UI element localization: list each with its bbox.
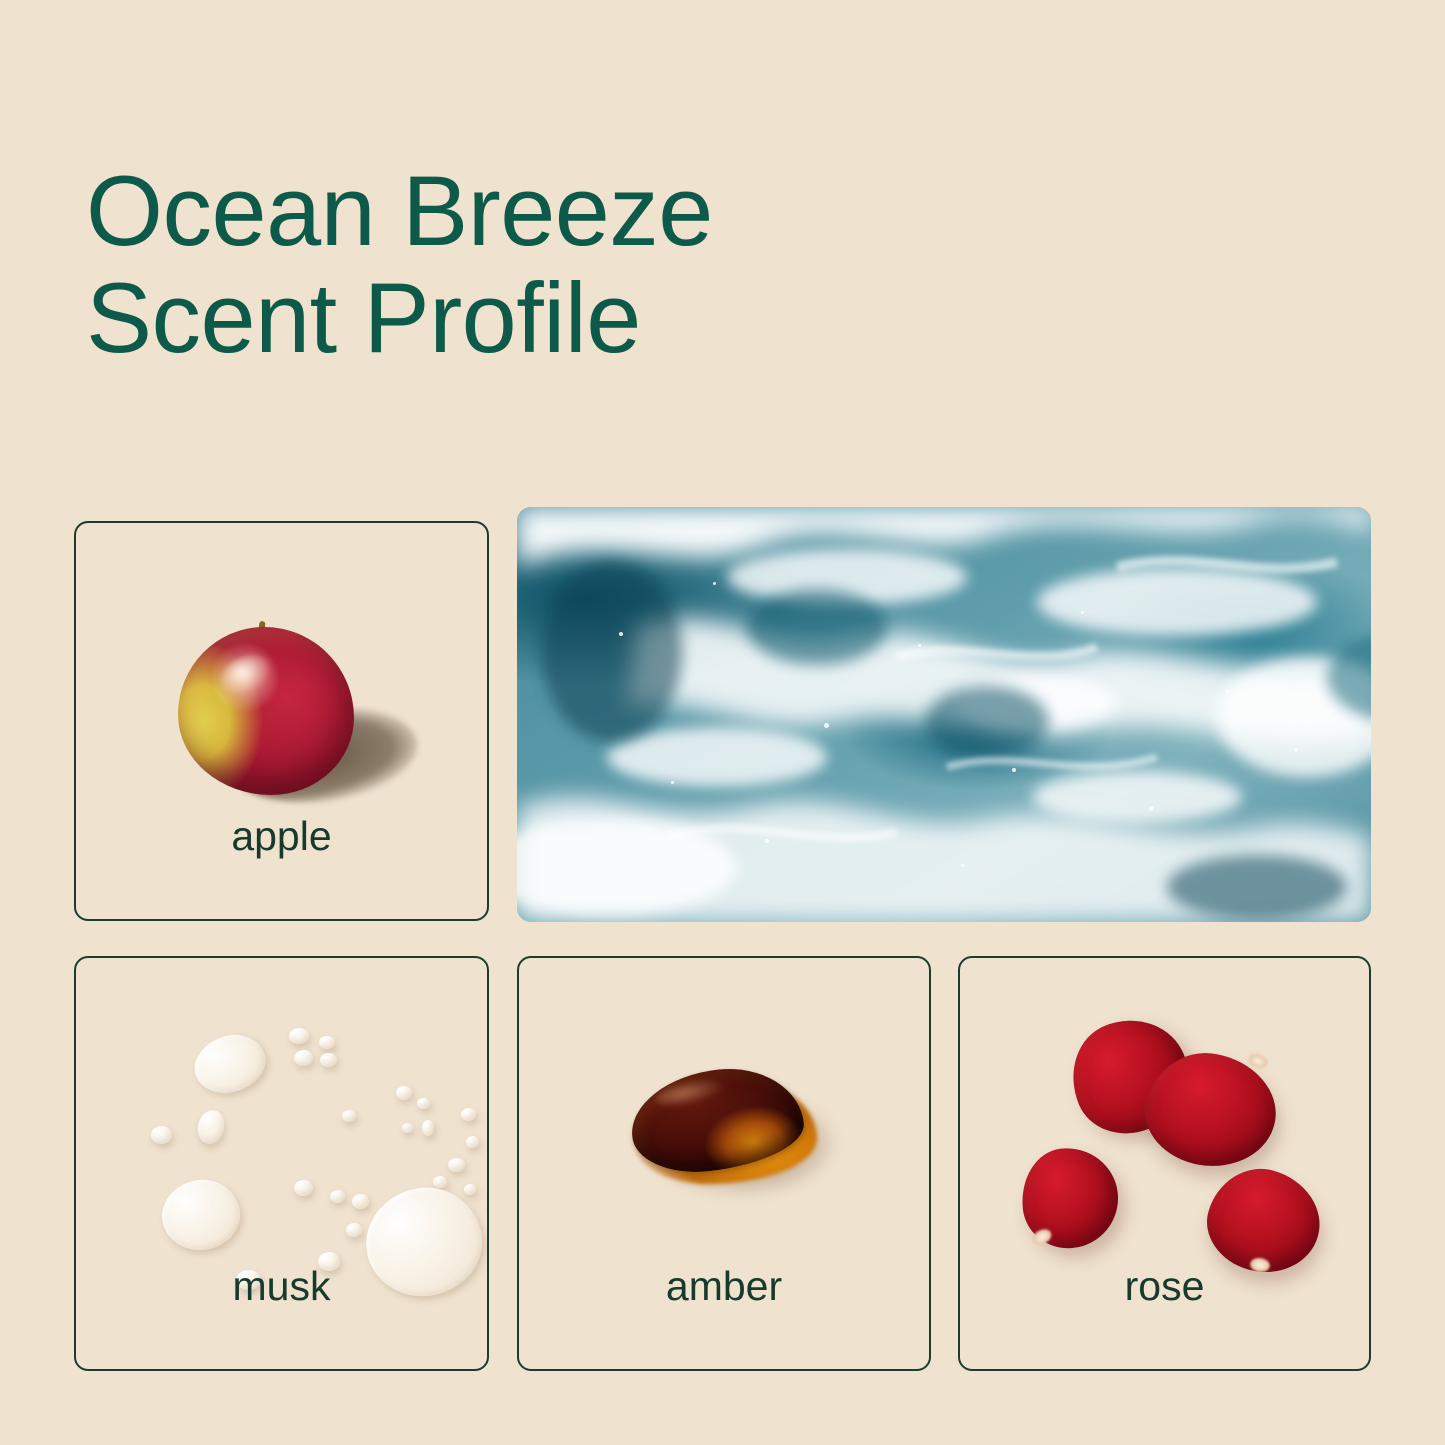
- apple-illustration: [172, 605, 402, 835]
- scent-card-amber[interactable]: amber: [517, 956, 931, 1371]
- page-title: Ocean Breeze Scent Profile: [86, 158, 986, 372]
- scent-profile-page: Ocean Breeze Scent Profile apple: [0, 0, 1445, 1445]
- ocean-foam-photo[interactable]: [517, 507, 1371, 922]
- scent-card-label-amber: amber: [519, 1266, 929, 1307]
- apple-photo: [76, 523, 487, 919]
- scent-card-musk[interactable]: musk: [74, 956, 489, 1371]
- scent-card-label-apple: apple: [76, 816, 487, 857]
- apple-body: [178, 627, 354, 795]
- scent-card-apple[interactable]: apple: [74, 521, 489, 921]
- scent-card-label-musk: musk: [76, 1266, 487, 1307]
- scent-card-label-rose: rose: [960, 1266, 1369, 1307]
- scent-card-rose[interactable]: rose: [958, 956, 1371, 1371]
- amber-illustration: [621, 1066, 841, 1206]
- ocean-foam-shapes: [517, 507, 1371, 922]
